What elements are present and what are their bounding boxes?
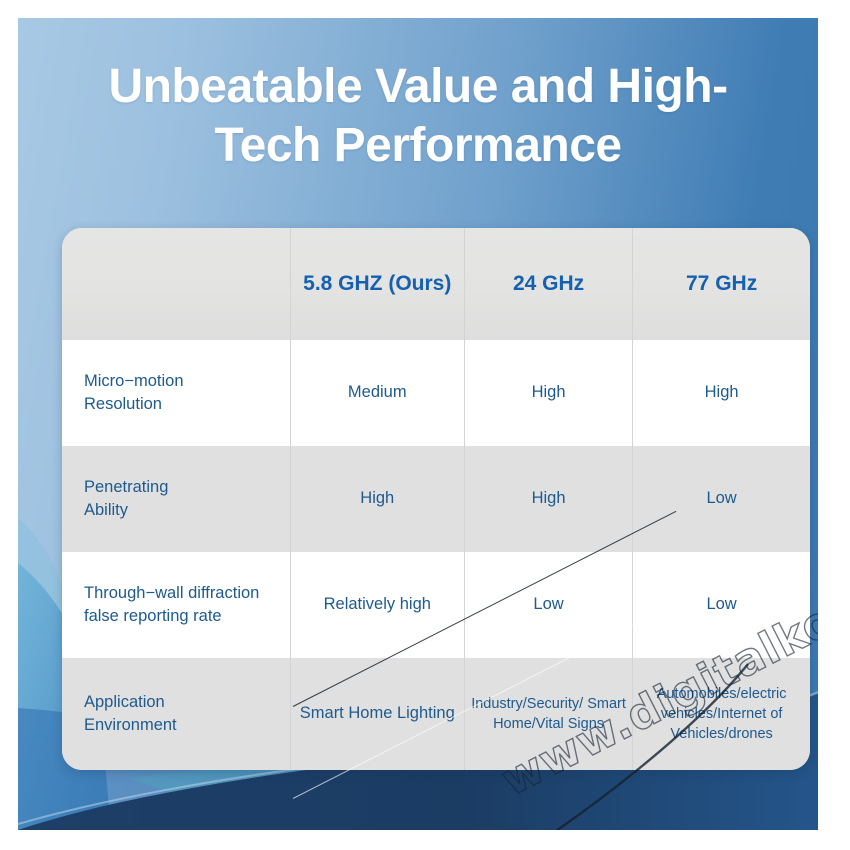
row-label-penetrating-ability: Penetrating Ability [62, 446, 290, 552]
cell-penetrating-24ghz: High [464, 446, 632, 552]
page-title-line-2: Tech Performance [40, 117, 796, 176]
comparison-table-card: 5.8 GHZ (Ours) 24 GHz 77 GHz Micro−motio… [62, 228, 810, 770]
row-label-line-1: Application [84, 693, 165, 711]
row-label-line-2: Ability [84, 501, 128, 519]
table-row: Through−wall diffraction false reporting… [62, 552, 810, 658]
table-row: Micro−motion Resolution Medium High High [62, 340, 810, 446]
poster-canvas: Unbeatable Value and High- Tech Performa… [18, 18, 818, 830]
cell-through-wall-77ghz: Low [633, 552, 810, 658]
table-body: Micro−motion Resolution Medium High High… [62, 340, 810, 770]
page-title: Unbeatable Value and High- Tech Performa… [18, 58, 818, 175]
cell-micro-motion-24ghz: High [464, 340, 632, 446]
row-label-line-1: Penetrating [84, 478, 168, 496]
row-label-line-1: Through−wall diffraction [84, 584, 259, 602]
table-header-row: 5.8 GHZ (Ours) 24 GHz 77 GHz [62, 228, 810, 340]
row-label-through-wall-diffraction: Through−wall diffraction false reporting… [62, 552, 290, 658]
cell-application-24ghz: Industry/Security/ Smart Home/Vital Sign… [464, 658, 632, 770]
cell-through-wall-5-8ghz: Relatively high [290, 552, 464, 658]
cell-penetrating-77ghz: Low [633, 446, 810, 552]
row-label-micro-motion-resolution: Micro−motion Resolution [62, 340, 290, 446]
cell-micro-motion-77ghz: High [633, 340, 810, 446]
row-label-line-1: Micro−motion [84, 372, 184, 390]
cell-application-77ghz: Automobiles/electric vehicles/Internet o… [633, 658, 810, 770]
column-header-5-8ghz: 5.8 GHZ (Ours) [290, 228, 464, 340]
table-header: 5.8 GHZ (Ours) 24 GHz 77 GHz [62, 228, 810, 340]
comparison-table: 5.8 GHZ (Ours) 24 GHz 77 GHz Micro−motio… [62, 228, 810, 770]
page-title-line-1: Unbeatable Value and High- [40, 58, 796, 117]
cell-micro-motion-5-8ghz: Medium [290, 340, 464, 446]
cell-penetrating-5-8ghz: High [290, 446, 464, 552]
column-header-77ghz: 77 GHz [633, 228, 810, 340]
row-label-line-2: Resolution [84, 395, 162, 413]
row-label-line-2: false reporting rate [84, 607, 222, 625]
row-label-line-2: Environment [84, 716, 177, 734]
table-row: Application Environment Smart Home Light… [62, 658, 810, 770]
cell-application-5-8ghz: Smart Home Lighting [290, 658, 464, 770]
column-header-24ghz: 24 GHz [464, 228, 632, 340]
row-label-application-environment: Application Environment [62, 658, 290, 770]
cell-through-wall-24ghz: Low [464, 552, 632, 658]
column-header-blank [62, 228, 290, 340]
table-row: Penetrating Ability High High Low [62, 446, 810, 552]
